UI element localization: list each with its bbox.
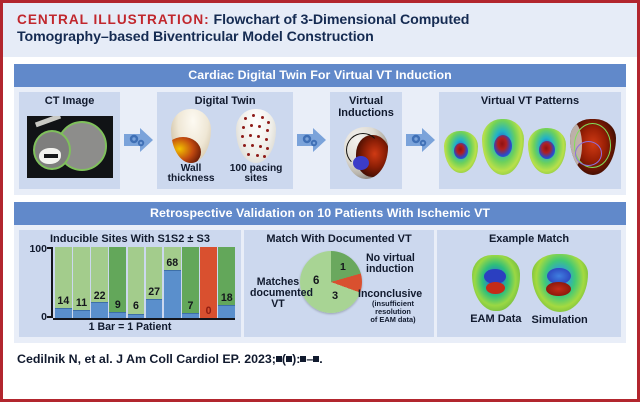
central-illustration-figure: CENTRAL ILLUSTRATION: Flowchart of 3-Dim…: [0, 0, 640, 402]
pie-chart-title: Match With Documented VT: [250, 233, 428, 245]
arrow-2-wrap: [296, 92, 327, 189]
pie-label-no-induction: No virtual induction: [366, 253, 428, 276]
step-virtual-vt-patterns-title: Virtual VT Patterns: [481, 95, 579, 107]
pie-value-inconclusive: 3: [332, 290, 338, 302]
ct-scan-image: [27, 116, 113, 178]
figure-title-bar: CENTRAL ILLUSTRATION: Flowchart of 3-Dim…: [3, 3, 637, 57]
pie-value-matches: 6: [313, 275, 319, 287]
panel2-header: Retrospective Validation on 10 Patients …: [14, 202, 626, 225]
table-row: 14: [55, 247, 72, 318]
step-ct-image-title: CT Image: [45, 95, 95, 107]
bar-value-1: 14: [57, 295, 69, 307]
bar-value-7: 68: [166, 257, 178, 269]
panel1-header: Cardiac Digital Twin For Virtual VT Indu…: [14, 64, 626, 87]
table-row: 68: [164, 247, 181, 318]
gear-arrow-icon-2: [297, 125, 327, 155]
ct-image-media: [27, 109, 113, 185]
table-row: 18: [218, 247, 235, 318]
virtual-vt-patterns-media: [444, 109, 616, 185]
page-title-line2: Tomography–based Biventricular Model Con…: [17, 29, 623, 46]
panel2-body: Inducible Sites With S1S2 ± S3 100 0: [14, 225, 626, 343]
step-virtual-vt-patterns: Virtual VT Patterns: [439, 92, 621, 189]
step-virtual-inductions-title: Virtual Inductions: [335, 95, 397, 119]
page-title-line1: Flowchart of 3-Dimensional Computed: [214, 12, 470, 28]
wall-thickness-heart-model: [171, 109, 211, 163]
pacing-sites-caption: 100 pacing sites: [224, 164, 288, 185]
citation-dash: –: [306, 352, 313, 366]
table-row: 11: [73, 247, 90, 318]
pacing-sites-heart-model: [236, 109, 276, 163]
bar-chart-bars: 14 11 22: [55, 247, 235, 318]
pacing-lead-shape: [346, 133, 380, 167]
table-row: 27: [146, 247, 163, 318]
y-tick-100: 100: [29, 243, 47, 255]
gear-arrow-icon-3: [406, 125, 436, 155]
panel-cardiac-digital-twin: Cardiac Digital Twin For Virtual VT Indu…: [14, 64, 626, 195]
central-illustration-label: CENTRAL ILLUSTRATION:: [17, 12, 210, 27]
virtual-inductions-media: [344, 121, 388, 185]
bar-value-8: 7: [187, 300, 193, 312]
table-row: 6: [128, 247, 145, 318]
arrow-1-wrap: [123, 92, 154, 189]
virtual-induction-heart-model: [344, 127, 388, 179]
step-digital-twin: Digital Twin Wall thickness: [157, 92, 293, 189]
bar-value-4: 9: [115, 299, 121, 311]
pie-chart: 6 1 3 Matches documented VT No virtual i…: [250, 247, 428, 333]
arrow-3-wrap: [405, 92, 436, 189]
table-row: 9: [109, 247, 126, 318]
simulation-col: Simulation: [532, 254, 588, 326]
bar-chart-title: Inducible Sites With S1S2 ± S3: [25, 233, 235, 245]
pie-label-matches: Matches documented VT: [250, 277, 306, 310]
citation: Cedilnik N, et al. J Am Coll Cardiol EP.…: [3, 343, 637, 366]
bar-value-2: 11: [76, 297, 87, 309]
eam-data-col: EAM Data: [470, 255, 521, 325]
card-inducible-sites: Inducible Sites With S1S2 ± S3 100 0: [19, 230, 241, 337]
bar-chart: 100 0 14 11: [25, 247, 235, 333]
card-match-documented-vt: Match With Documented VT 6 1 3 Matches d…: [244, 230, 434, 337]
wall-thickness-caption: Wall thickness: [162, 164, 220, 185]
eam-data-caption: EAM Data: [470, 313, 521, 325]
step-digital-twin-title: Digital Twin: [195, 95, 256, 107]
vt-pattern-scar-heart: [570, 119, 616, 175]
pie-value-no-induction: 1: [340, 261, 346, 273]
ct-dark-region: [44, 154, 58, 158]
step-virtual-inductions: Virtual Inductions: [330, 92, 402, 189]
pie-label-inconclusive: Inconclusive (insufficient resolution of…: [358, 289, 428, 324]
citation-text: Cedilnik N, et al. J Am Coll Cardiol EP.…: [17, 352, 276, 366]
panel1-body: CT Image: [14, 87, 626, 195]
vt-pattern-heart-1: [444, 131, 478, 173]
pie-annotation-line1: (insufficient resolution: [358, 300, 428, 316]
bar-value-9: 0: [206, 305, 212, 317]
citation-period: .: [319, 352, 322, 366]
table-row: 22: [91, 247, 108, 318]
pacing-sites-col: 100 pacing sites: [224, 109, 288, 185]
simulation-caption: Simulation: [532, 314, 588, 326]
bar-chart-x-label: 1 Bar = 1 Patient: [25, 321, 235, 333]
citation-paren-close: ):: [292, 352, 300, 366]
bar-value-5: 6: [133, 300, 139, 312]
bar-chart-x-axis: [53, 318, 235, 320]
eam-data-map: [472, 255, 520, 311]
panels-container: Cardiac Digital Twin For Virtual VT Indu…: [3, 64, 637, 343]
step-ct-image: CT Image: [19, 92, 120, 189]
digital-twin-media: Wall thickness: [162, 109, 288, 185]
wall-thickness-col: Wall thickness: [162, 109, 220, 185]
pie-chart-graphic: 6 1 3: [300, 251, 362, 313]
panel-retrospective-validation: Retrospective Validation on 10 Patients …: [14, 202, 626, 343]
pie-annotation-line2: of EAM data): [358, 316, 428, 324]
simulation-map: [532, 254, 588, 312]
page-title: CENTRAL ILLUSTRATION: Flowchart of 3-Dim…: [17, 12, 623, 29]
bar-chart-y-axis: 100 0: [25, 247, 51, 318]
table-row: 7: [182, 247, 199, 318]
bar-value-3: 22: [94, 290, 106, 302]
ct-streak-artifact: [34, 116, 60, 127]
bar-chart-plot-row: 100 0 14 11: [25, 247, 235, 318]
vt-pattern-heart-2: [482, 119, 524, 175]
bar-value-6: 27: [148, 286, 160, 298]
vt-pattern-heart-3: [528, 128, 566, 174]
bar-chart-axis-line: [51, 247, 53, 318]
table-row: 0: [200, 247, 217, 318]
card-example-match: Example Match EAM Data Simulation: [437, 230, 621, 337]
bar-value-10: 18: [221, 292, 233, 304]
example-match-title: Example Match: [443, 233, 615, 245]
gear-arrow-icon: [124, 125, 154, 155]
example-match-media: EAM Data Simulation: [443, 247, 615, 333]
